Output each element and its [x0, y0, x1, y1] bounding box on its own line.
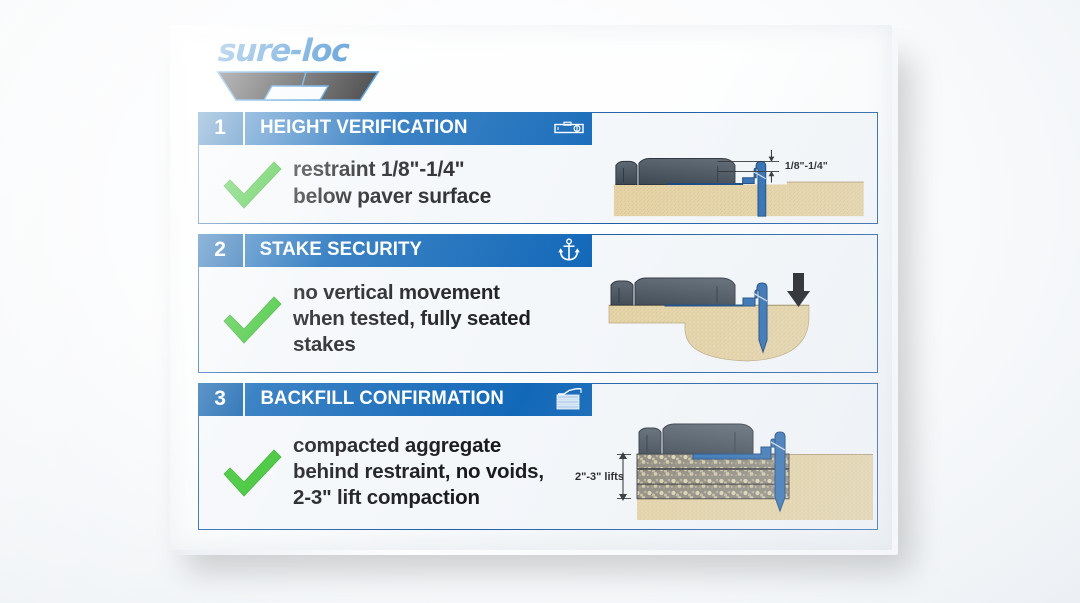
- row-1-header: 1 HEIGHT VERIFICATION: [198, 112, 592, 145]
- brand-logo: sure-loc: [210, 36, 390, 104]
- row-1-title: HEIGHT VERIFICATION: [260, 117, 467, 139]
- row-2-title: STAKE SECURITY: [259, 239, 421, 261]
- row-3-header: 3 BACKFILL CONFIRMATION: [198, 383, 592, 416]
- checklist-rows: 1 HEIGHT VERIFICATION: [198, 112, 878, 540]
- row-3-title-bar: BACKFILL CONFIRMATION: [245, 383, 592, 416]
- row-3-text: compacted aggregate behind restraint, no…: [291, 433, 544, 512]
- backfill-confirmation-diagram: 2"-3" lifts: [575, 418, 875, 526]
- row-1-checkmark: [213, 156, 291, 214]
- photo-scene: sure-loc 1 HEIGHT VERIFICATION: [0, 0, 1080, 603]
- height-verification-diagram: 1/8"-1/4": [595, 147, 873, 220]
- row-1-text: restraint 1/8"-1/4" below paver surface: [291, 157, 491, 212]
- stake-security-diagram: [595, 269, 873, 369]
- row-2-checkmark: [213, 291, 291, 349]
- row-1-number: 1: [198, 112, 245, 145]
- row-1-dimension-label: 1/8"-1/4": [785, 160, 828, 172]
- spirit-level-icon: [554, 121, 584, 135]
- row-2-header: 2 STAKE SECURITY: [198, 234, 592, 267]
- row-1-title-bar: HEIGHT VERIFICATION: [245, 112, 592, 145]
- row-3-title: BACKFILL CONFIRMATION: [260, 388, 503, 410]
- checklist-row-1: 1 HEIGHT VERIFICATION: [198, 112, 878, 224]
- brand-logo-mark: [210, 70, 380, 103]
- brand-wordmark: sure-loc: [209, 36, 391, 67]
- compaction-layers-icon: [554, 388, 584, 410]
- checklist-row-3: 3 BACKFILL CONFIRMATION: [198, 383, 878, 530]
- row-2-number: 2: [198, 234, 245, 267]
- checklist-row-2: 2 STAKE SECURITY: [198, 234, 878, 373]
- row-2-title-bar: STAKE SECURITY: [245, 234, 592, 267]
- row-3-dimension-label: 2"-3" lifts: [575, 471, 624, 483]
- row-2-text: no vertical movement when tested, fully …: [291, 280, 531, 359]
- row-3-number: 3: [198, 383, 245, 416]
- anchor-icon: [554, 238, 584, 262]
- row-3-checkmark: [213, 444, 291, 502]
